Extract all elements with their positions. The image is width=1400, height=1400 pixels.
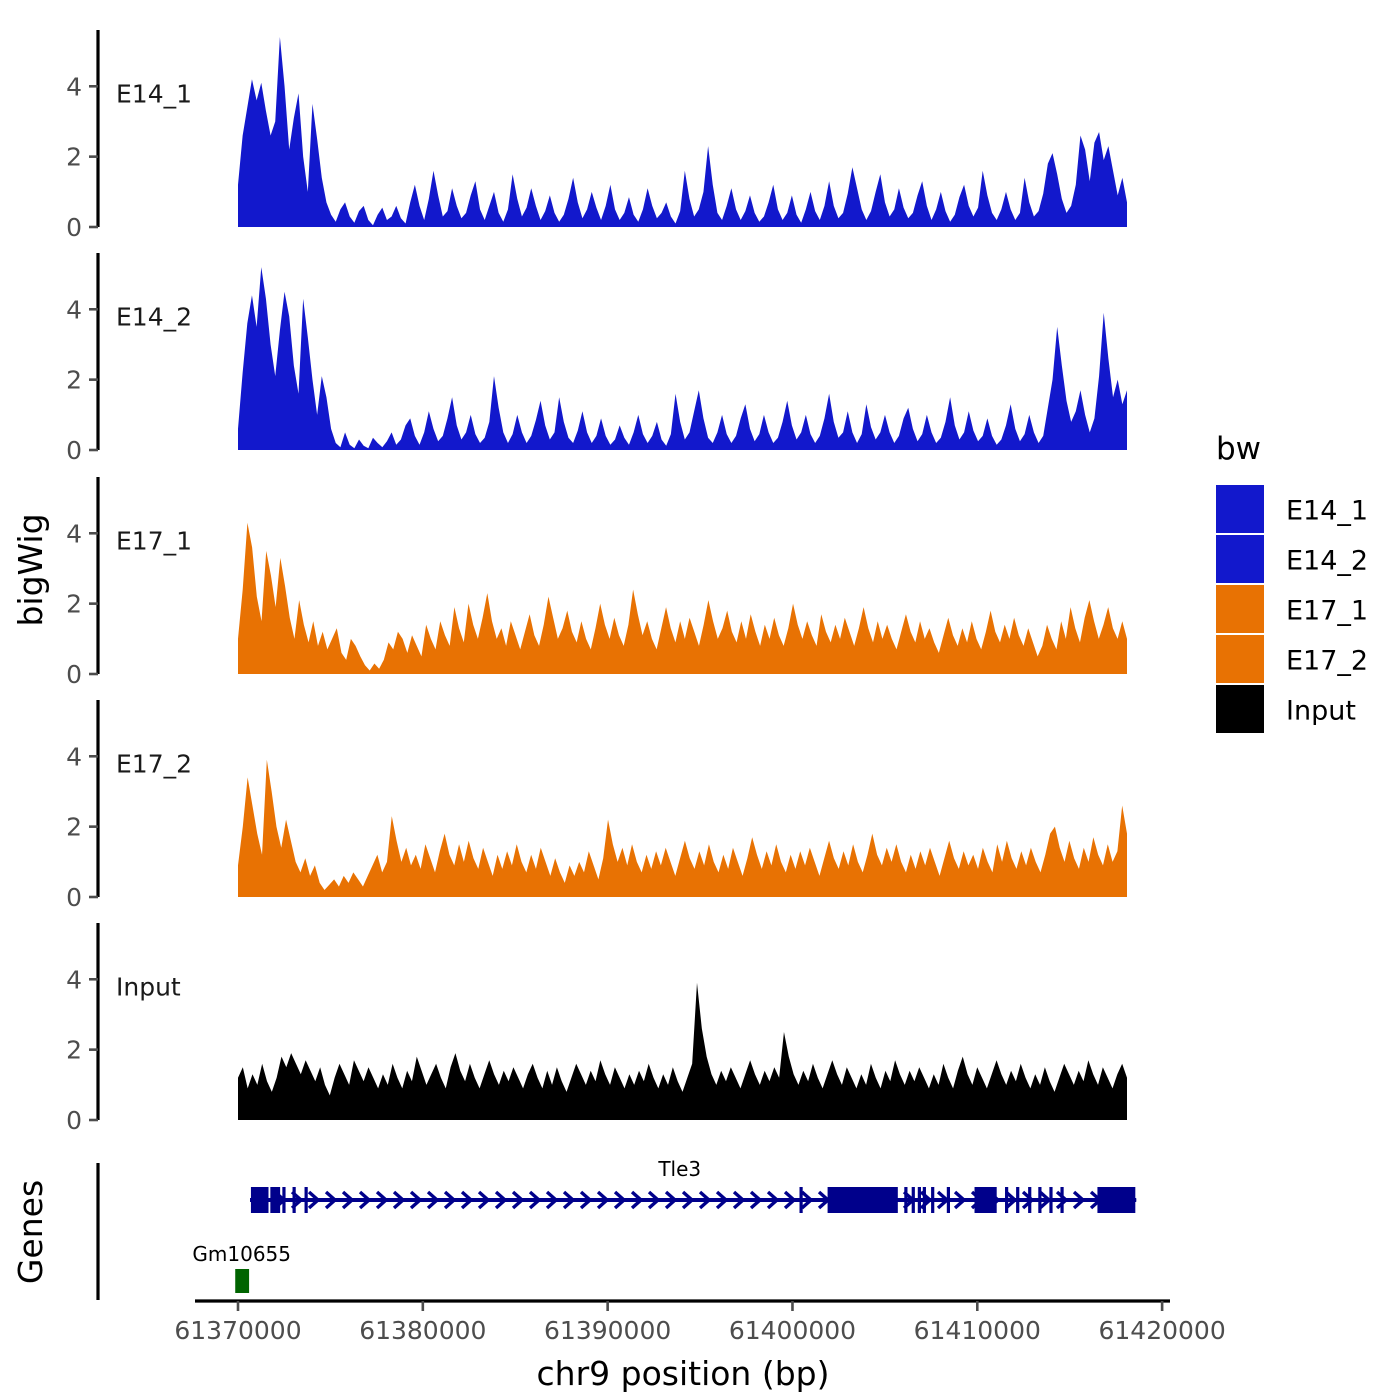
panel-label-Input: Input	[116, 973, 181, 1002]
panel-y-tick-label: 2	[66, 1036, 82, 1065]
legend-swatch-E17_1	[1216, 585, 1264, 633]
genome-browser-figure: 024E14_1024E14_2024E17_1024E17_2024Input…	[0, 0, 1400, 1400]
panel-y-tick-label: 4	[66, 519, 82, 548]
gene-exon	[1016, 1187, 1019, 1213]
gene-label-Gm10655: Gm10655	[192, 1242, 291, 1266]
legend-label-E17_2: E17_2	[1286, 646, 1368, 677]
gene-exon	[1060, 1187, 1063, 1213]
gene-exon	[947, 1187, 950, 1213]
gene-exon	[1005, 1187, 1008, 1213]
panel-y-tick-label: 2	[66, 590, 82, 619]
legend-swatch-E17_2	[1216, 635, 1264, 683]
legend-label-Input: Input	[1286, 696, 1356, 727]
gene-exon	[918, 1187, 921, 1213]
gene-label-Tle3: Tle3	[657, 1157, 701, 1181]
panel-label-E17_2: E17_2	[116, 750, 192, 779]
gene-exon	[799, 1187, 802, 1213]
x-axis-tick-label: 61410000	[914, 1316, 1041, 1345]
gene-exon	[235, 1269, 249, 1293]
gene-exon	[904, 1187, 907, 1213]
gene-exon	[293, 1187, 296, 1213]
gene-exon	[828, 1187, 898, 1213]
legend-title: bw	[1216, 431, 1261, 467]
panel-y-tick-label: 0	[66, 883, 82, 912]
gene-exon	[931, 1187, 934, 1213]
gene-exon	[912, 1187, 915, 1213]
x-axis-tick-label: 61370000	[174, 1316, 301, 1345]
gene-exon	[305, 1187, 308, 1213]
gene-exon	[1097, 1187, 1135, 1213]
panel-y-tick-label: 2	[66, 366, 82, 395]
panel-y-tick-label: 2	[66, 143, 82, 172]
gene-exon	[270, 1187, 280, 1213]
legend-swatch-E14_1	[1216, 485, 1264, 533]
legend-label-E17_1: E17_1	[1286, 596, 1368, 627]
panel-y-tick-label: 0	[66, 436, 82, 465]
gene-exon	[1038, 1187, 1041, 1213]
x-axis-tick-label: 61420000	[1098, 1316, 1225, 1345]
panel-y-tick-label: 4	[66, 965, 82, 994]
panel-y-tick-label: 0	[66, 660, 82, 689]
gene-exon	[1049, 1187, 1052, 1213]
panel-y-tick-label: 0	[66, 213, 82, 242]
gene-exon	[1028, 1187, 1031, 1213]
x-axis-title: chr9 position (bp)	[537, 1354, 830, 1393]
legend-swatch-Input	[1216, 685, 1264, 733]
gene-exon	[282, 1187, 285, 1213]
y-axis-title: bigWig	[11, 513, 50, 626]
x-axis-tick-label: 61380000	[359, 1316, 486, 1345]
x-axis-tick-label: 61400000	[729, 1316, 856, 1345]
panel-label-E14_2: E14_2	[116, 303, 192, 332]
legend-label-E14_2: E14_2	[1286, 546, 1368, 577]
panel-y-tick-label: 4	[66, 72, 82, 101]
legend-label-E14_1: E14_1	[1286, 496, 1368, 527]
panel-y-tick-label: 0	[66, 1106, 82, 1135]
panel-label-E14_1: E14_1	[116, 80, 192, 109]
genes-axis-title: Genes	[11, 1180, 50, 1284]
x-axis-tick-label: 61390000	[544, 1316, 671, 1345]
legend-swatch-E14_2	[1216, 535, 1264, 583]
panel-y-tick-label: 4	[66, 742, 82, 771]
gene-exon	[975, 1187, 997, 1213]
gene-exon	[923, 1187, 926, 1213]
panel-label-E17_1: E17_1	[116, 527, 192, 556]
gene-exon	[251, 1187, 269, 1213]
panel-y-tick-label: 4	[66, 295, 82, 324]
panel-y-tick-label: 2	[66, 813, 82, 842]
